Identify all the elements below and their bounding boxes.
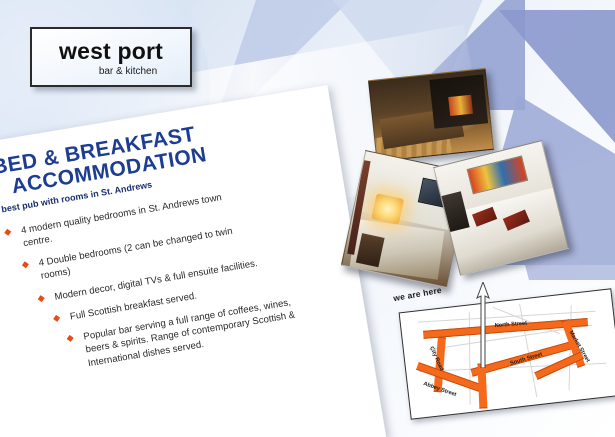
map-faint-street [468,312,470,405]
poster-canvas: west port bar & kitchen BED & BREAKFAST … [0,0,615,437]
bedroom-artwork-photo [433,140,569,276]
bullet-diamond-icon [53,315,60,322]
map-pointer-icon [474,282,492,368]
we-are-here-label: we are here [393,285,443,303]
photo-detail-artwork [448,95,473,117]
photo-detail-lamp [371,194,403,225]
bullet-diamond-icon [38,295,45,302]
brand-logo-name: west port [59,40,163,63]
brand-logo-box: west port bar & kitchen [30,27,192,87]
bullet-diamond-icon [22,261,29,268]
bar-interior-photo [368,68,494,162]
location-map[interactable]: North Street South Street City Road Abbe… [399,288,615,420]
bullet-diamond-icon [67,335,74,342]
flyer-content: BED & BREAKFAST ACCOMMODATION best pub w… [0,103,355,389]
bullet-diamond-icon [4,228,11,235]
brand-logo-tagline: bar & kitchen [99,67,157,77]
flyer-card: BED & BREAKFAST ACCOMMODATION best pub w… [0,85,387,437]
